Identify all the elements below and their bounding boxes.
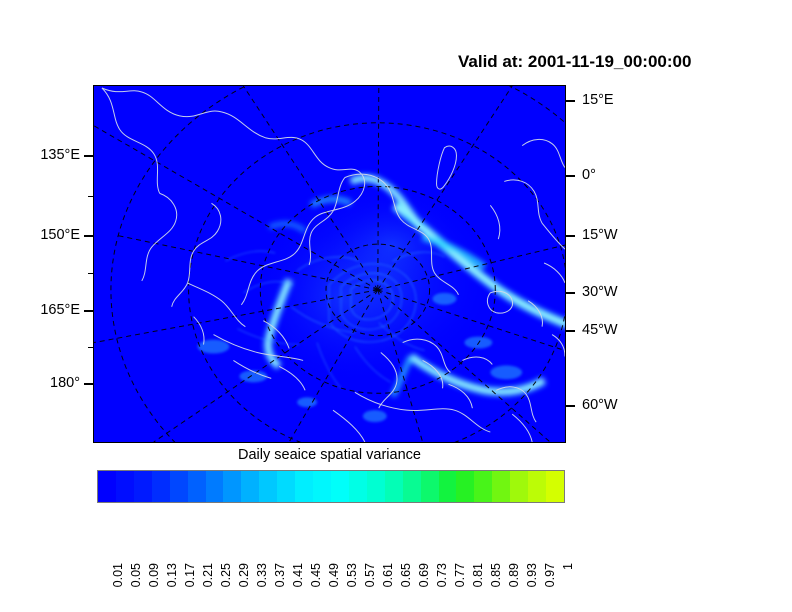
axis-label-right-3: 15°W [582, 227, 618, 243]
right-tick-major-5 [566, 330, 575, 332]
left-tick-minor-1 [88, 196, 93, 197]
colorbar-cell [367, 471, 385, 502]
axis-label-left-3: 165°E [0, 302, 80, 318]
colorbar-tick-label: 0.41 [291, 563, 305, 587]
colorbar-cell [277, 471, 295, 502]
left-tick-major-2 [84, 235, 93, 237]
colorbar-cell [474, 471, 492, 502]
colorbar-tick-labels: 0.010.050.090.130.170.210.250.290.330.37… [97, 507, 565, 569]
colorbar-cell [259, 471, 277, 502]
colorbar-cell [439, 471, 457, 502]
left-tick-minor-2 [88, 273, 93, 274]
colorbar-cell [546, 471, 564, 502]
colorbar-cell [456, 471, 474, 502]
colorbar-cell [98, 471, 116, 502]
colorbar-cell [295, 471, 313, 502]
colorbar-tick-label: 0.61 [381, 563, 395, 587]
colorbar-cell [403, 471, 421, 502]
axis-label-right-1: 15°E [582, 92, 614, 108]
colorbar-tick-label: 0.89 [507, 563, 521, 587]
axis-label-left-2: 150°E [0, 227, 80, 243]
colorbar-cell [510, 471, 528, 502]
colorbar-tick-label: 0.57 [363, 563, 377, 587]
colorbar-caption: Daily seaice spatial variance [93, 447, 566, 463]
axis-label-right-4: 30°W [582, 284, 618, 300]
right-tick-major-1 [566, 100, 575, 102]
colorbar-tick-label: 0.97 [543, 563, 557, 587]
axis-label-left-4: 180° [0, 375, 80, 391]
left-tick-major-3 [84, 310, 93, 312]
colorbar-tick-label: 0.81 [471, 563, 485, 587]
colorbar-tick-label: 0.45 [309, 563, 323, 587]
map-plot-area [93, 85, 566, 443]
right-tick-major-3 [566, 235, 575, 237]
colorbar-cell [492, 471, 510, 502]
colorbar-cell [313, 471, 331, 502]
left-tick-major-1 [84, 155, 93, 157]
colorbar-tick-label: 0.93 [525, 563, 539, 587]
colorbar-cell [331, 471, 349, 502]
colorbar-tick-label: 0.05 [129, 563, 143, 587]
colorbar [97, 470, 565, 503]
colorbar-tick-label: 0.21 [201, 563, 215, 587]
left-tick-major-4 [84, 383, 93, 385]
axis-label-left-1: 135°E [0, 147, 80, 163]
colorbar-tick-label: 0.49 [327, 563, 341, 587]
colorbar-tick-label: 0.25 [219, 563, 233, 587]
colorbar-cell [349, 471, 367, 502]
colorbar-cell [206, 471, 224, 502]
colorbar-tick-label: 0.37 [273, 563, 287, 587]
colorbar-tick-label: 0.53 [345, 563, 359, 587]
colorbar-tick-label: 0.69 [417, 563, 431, 587]
colorbar-tick-label: 0.73 [435, 563, 449, 587]
colorbar-tick-label: 0.33 [255, 563, 269, 587]
page-title: Valid at: 2001-11-19_00:00:00 [458, 52, 691, 72]
colorbar-cell [421, 471, 439, 502]
colorbar-tick-label: 0.01 [111, 563, 125, 587]
right-tick-major-6 [566, 405, 575, 407]
colorbar-cell [241, 471, 259, 502]
left-tick-minor-3 [88, 347, 93, 348]
colorbar-tick-label: 0.65 [399, 563, 413, 587]
colorbar-tick-label: 0.17 [183, 563, 197, 587]
right-tick-major-2 [566, 175, 575, 177]
colorbar-cell [223, 471, 241, 502]
colorbar-cell [188, 471, 206, 502]
axis-label-right-2: 0° [582, 167, 596, 183]
colorbar-tick-label: 0.85 [489, 563, 503, 587]
colorbar-tick-label: 0.13 [165, 563, 179, 587]
axis-label-right-6: 60°W [582, 397, 618, 413]
colorbar-cell [152, 471, 170, 502]
colorbar-cell [385, 471, 403, 502]
colorbar-tick-label: 1 [561, 563, 575, 570]
right-tick-major-4 [566, 292, 575, 294]
colorbar-tick-label: 0.77 [453, 563, 467, 587]
colorbar-tick-label: 0.09 [147, 563, 161, 587]
colorbar-cell [528, 471, 546, 502]
colorbar-tick-label: 0.29 [237, 563, 251, 587]
map-canvas [94, 86, 565, 442]
colorbar-cell [170, 471, 188, 502]
axis-label-right-5: 45°W [582, 322, 618, 338]
colorbar-cell [134, 471, 152, 502]
colorbar-cell [116, 471, 134, 502]
colorbar-swatches [97, 470, 565, 503]
